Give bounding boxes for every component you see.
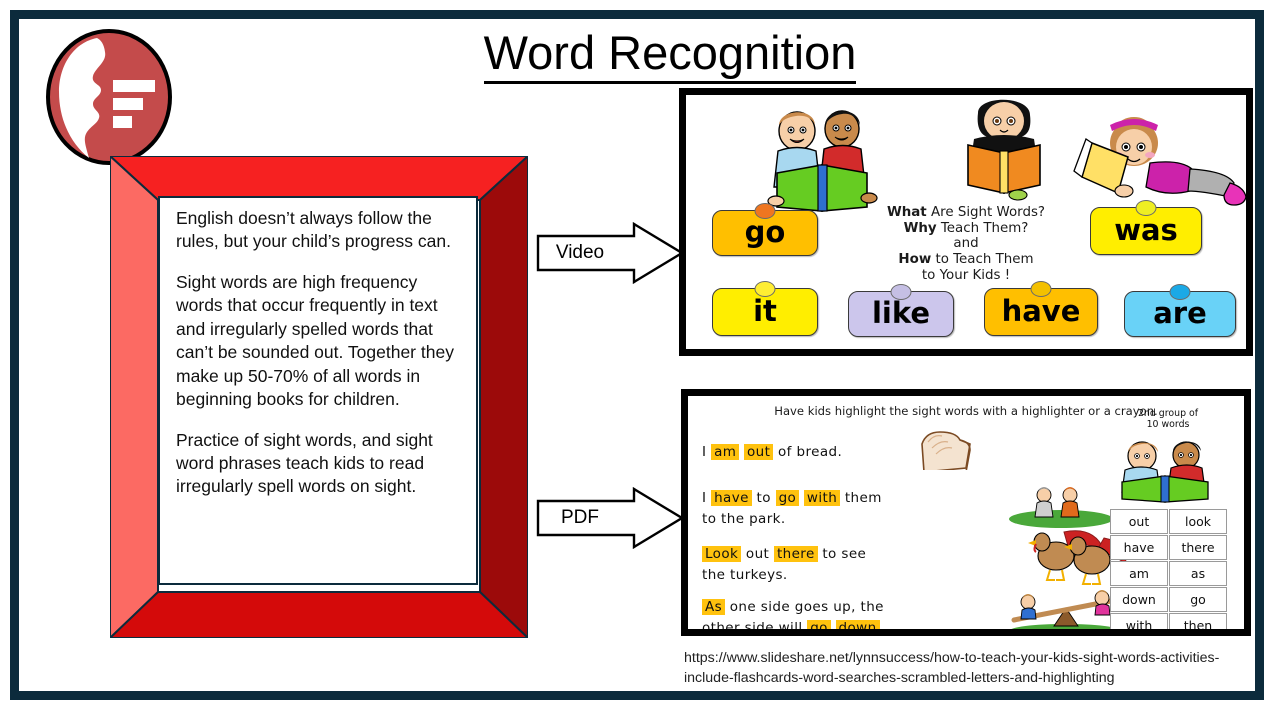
sentence-text: to see [818,546,867,562]
video-arrow-label: Video [536,222,624,284]
pdf-sentence-line-7: other side will go down . [702,620,889,629]
pdf-thumbnail-canvas: Have kids highlight the sight words with… [688,396,1244,629]
sentence-text: I [702,490,711,506]
video-thumbnail-canvas: What Are Sight Words?Why Teach Them?andH… [686,95,1246,349]
word-card-label: was [1114,213,1178,247]
pdf-sentence-line-4: Look out there to see [702,546,866,562]
pdf-thumbnail[interactable]: Have kids highlight the sight words with… [681,389,1251,636]
sentence-text: out [741,546,774,562]
pdf-sentence-line-2: I have to go with them [702,490,882,506]
sentence-text: other side will [702,620,807,629]
highlighted-sight-word: with [804,490,840,506]
word-grid-row: downgo [1110,587,1228,613]
word-grid-caption-line-1: 2nd group of [1120,408,1216,419]
highlighted-sight-word: there [774,546,818,562]
word-grid-row: havethere [1110,535,1228,561]
highlighted-sight-word: down [836,620,880,629]
slide-canvas: Word Recognition English doesn’t always … [0,0,1280,720]
word-card-go: go [712,210,818,256]
highlighted-sight-word: have [711,490,752,506]
highlighted-sight-word: go [776,490,800,506]
pdf-sentence-line-5: the turkeys. [702,567,788,583]
video-headline-line-2: Why Teach Them? [851,221,1081,237]
sentence-text [831,620,836,629]
word-grid-caption-line-2: 10 words [1120,419,1216,430]
highlighted-sight-word: am [711,444,739,460]
sight-word-grid: outlookhavethereamasdowngowiththen [1110,509,1228,629]
highlighted-sight-word: As [702,599,725,615]
paragraph-1: English doesn’t always follow the rules,… [176,207,464,254]
word-grid-cell-then: then [1169,613,1227,629]
sentence-text: one side goes up, the [725,599,884,615]
bread-loaf-illustration [916,428,974,470]
pdf-sentence-line-6: As one side goes up, the [702,599,884,615]
video-headline: What Are Sight Words?Why Teach Them?andH… [851,205,1081,283]
word-card-it: it [712,288,818,336]
word-grid-cell-am: am [1110,561,1168,586]
highlighted-sight-word: out [744,444,773,460]
word-grid-row: outlook [1110,509,1228,535]
word-grid-cell-have: have [1110,535,1168,560]
video-arrow[interactable]: Video [536,222,684,284]
word-card-label: have [1002,294,1081,328]
word-card-like: like [848,291,954,337]
content-text-panel: English doesn’t always follow the rules,… [158,196,478,585]
word-grid-cell-out: out [1110,509,1168,534]
two-kids-on-grass-illustration [1006,486,1116,528]
word-grid-cell-as: as [1169,561,1227,586]
pdf-sentence-line-3: to the park. [702,511,786,527]
girl-reading-orange-book-illustration [956,97,1052,201]
pdf-arrow[interactable]: PDF [536,487,684,549]
word-grid-row: amas [1110,561,1228,587]
video-headline-line-5: to Your Kids ! [851,268,1081,284]
sentence-text: . [880,620,889,629]
word-grid-row: withthen [1110,613,1228,629]
word-grid-cell-there: there [1169,535,1227,560]
word-card-label: are [1153,296,1207,330]
paragraph-3: Practice of sight words, and sight word … [176,429,464,499]
pdf-sentence-line-1: I am out of bread. [702,444,842,460]
two-boys-reading-green-book-mini-illustration [1112,438,1224,504]
paragraph-2: Sight words are high frequency words tha… [176,271,464,412]
page-title-text: Word Recognition [484,26,857,84]
word-grid-cell-look: look [1169,509,1227,534]
word-grid-caption: 2nd group of10 words [1120,408,1216,431]
head-profile-logo [45,28,173,166]
sentence-text: them [840,490,882,506]
video-headline-line-1: What Are Sight Words? [851,205,1081,221]
word-card-label: it [753,294,777,328]
video-thumbnail[interactable]: What Are Sight Words?Why Teach Them?andH… [679,88,1253,356]
content-paragraphs: English doesn’t always follow the rules,… [176,207,464,499]
video-headline-line-4: How to Teach Them [851,252,1081,268]
word-card-have: have [984,288,1098,336]
word-card-are: are [1124,291,1236,337]
sentence-text: I [702,444,711,460]
word-grid-cell-with: with [1110,613,1168,629]
word-card-label: go [745,215,786,249]
word-card-was: was [1090,207,1202,255]
video-headline-line-3: and [851,236,1081,252]
sentence-text: to [752,490,776,506]
sentence-text: the turkeys. [702,567,788,583]
girl-lying-reading-yellow-book-illustration [1062,113,1246,215]
seesaw-kids-illustration [1006,586,1124,629]
highlighted-sight-word: go [807,620,831,629]
sentence-text: of bread. [773,444,842,460]
page-title: Word Recognition [380,26,960,80]
word-card-label: like [872,296,930,330]
word-grid-cell-down: down [1110,587,1168,612]
sentence-text: to the park. [702,511,786,527]
word-grid-cell-go: go [1169,587,1227,612]
pdf-arrow-label: PDF [536,487,624,549]
highlighted-sight-word: Look [702,546,741,562]
source-url: https://www.slideshare.net/lynnsuccess/h… [684,648,1250,688]
two-boys-reading-green-book-illustration [764,103,884,215]
